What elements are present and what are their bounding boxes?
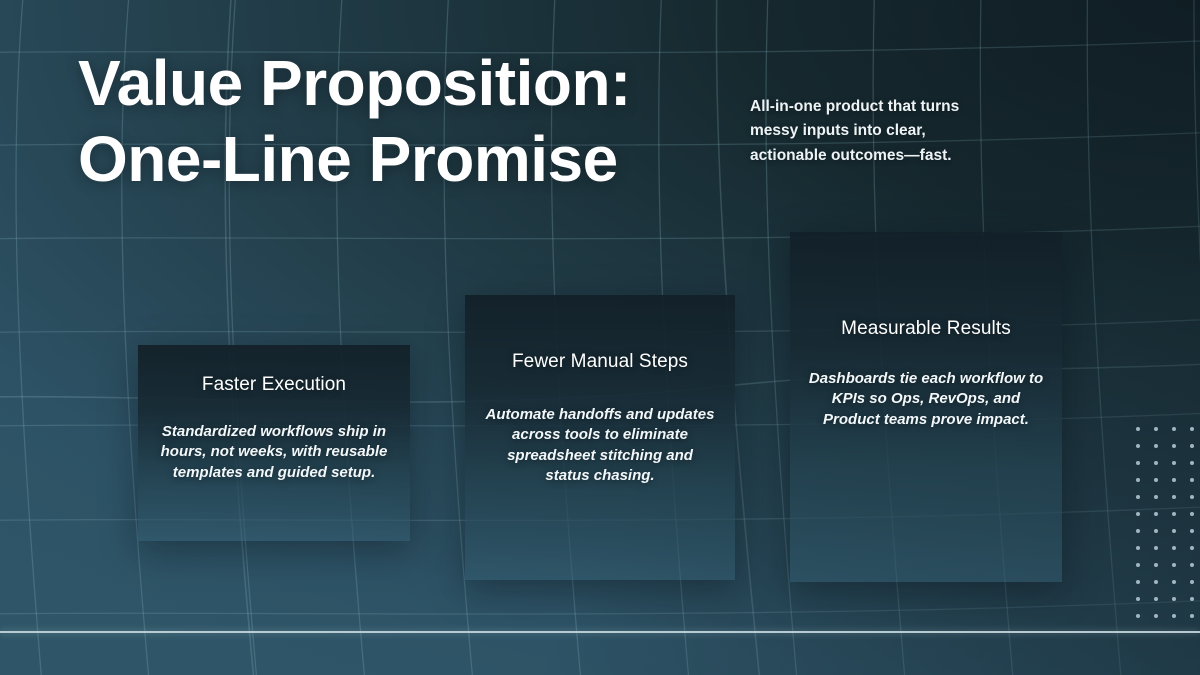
feature-card-faster-execution[interactable]: Faster Execution Standardized workflows …: [138, 345, 410, 541]
dot: [1190, 563, 1194, 567]
dot: [1154, 478, 1158, 482]
dot: [1136, 512, 1140, 516]
dot: [1154, 529, 1158, 533]
dot: [1154, 614, 1158, 618]
dot: [1190, 614, 1194, 618]
dot: [1136, 461, 1140, 465]
card-title: Measurable Results: [808, 318, 1044, 340]
dot: [1172, 529, 1176, 533]
dot: [1172, 444, 1176, 448]
dot: [1190, 546, 1194, 550]
feature-card-fewer-manual-steps[interactable]: Fewer Manual Steps Automate handoffs and…: [465, 295, 735, 580]
card-title: Faster Execution: [156, 374, 392, 396]
card-title: Fewer Manual Steps: [483, 351, 717, 373]
slide-subtitle: All-in-one product that turns messy inpu…: [750, 95, 1000, 168]
dot: [1190, 580, 1194, 584]
dot: [1136, 444, 1140, 448]
dot: [1136, 614, 1140, 618]
dot: [1190, 597, 1194, 601]
dot: [1154, 427, 1158, 431]
dot: [1154, 461, 1158, 465]
feature-card-measurable-results[interactable]: Measurable Results Dashboards tie each w…: [790, 232, 1062, 582]
dot: [1154, 444, 1158, 448]
bottom-divider: [0, 631, 1200, 633]
dot: [1190, 495, 1194, 499]
dot: [1136, 546, 1140, 550]
dot: [1190, 529, 1194, 533]
dot: [1172, 597, 1176, 601]
dot: [1154, 580, 1158, 584]
card-body: Standardized workflows ship in hours, no…: [156, 422, 392, 483]
page-title: Value Proposition: One-Line Promise: [78, 46, 718, 197]
card-body: Automate handoffs and updates across too…: [483, 405, 717, 486]
slide-canvas: Value Proposition: One-Line Promise All-…: [0, 0, 1200, 675]
dot: [1136, 563, 1140, 567]
dot: [1190, 461, 1194, 465]
dot: [1172, 563, 1176, 567]
dot: [1172, 546, 1176, 550]
dot: [1190, 427, 1194, 431]
dot-matrix-decoration: [1136, 427, 1200, 631]
dot: [1172, 495, 1176, 499]
dot: [1172, 427, 1176, 431]
dot: [1172, 512, 1176, 516]
dot: [1154, 546, 1158, 550]
dot: [1136, 597, 1140, 601]
dot: [1154, 597, 1158, 601]
dot: [1136, 529, 1140, 533]
dot: [1172, 461, 1176, 465]
dot: [1190, 444, 1194, 448]
dot: [1136, 580, 1140, 584]
dot: [1154, 512, 1158, 516]
dot: [1136, 427, 1140, 431]
dot: [1190, 512, 1194, 516]
dot: [1172, 614, 1176, 618]
dot: [1154, 563, 1158, 567]
dot: [1136, 495, 1140, 499]
dot: [1154, 495, 1158, 499]
card-body: Dashboards tie each workflow to KPIs so …: [808, 369, 1044, 430]
dot: [1136, 478, 1140, 482]
dot: [1190, 478, 1194, 482]
dot: [1172, 478, 1176, 482]
dot: [1172, 580, 1176, 584]
